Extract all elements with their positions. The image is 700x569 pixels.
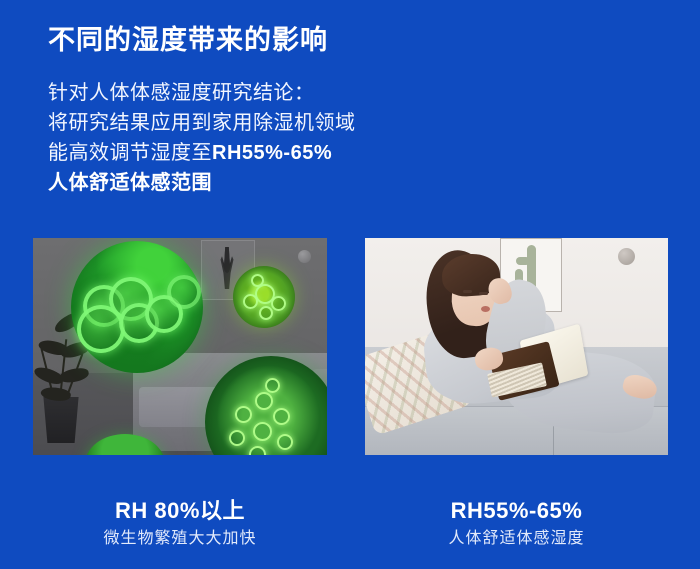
caption-subtitle: 微生物繁殖大大加快 xyxy=(33,527,327,551)
wall-fixture-dark xyxy=(298,250,311,263)
woman-lips xyxy=(481,306,490,312)
microbe-receptor xyxy=(259,306,273,320)
microbe-receptor xyxy=(235,406,252,423)
woman-reading xyxy=(397,244,647,455)
microbe-receptor xyxy=(273,408,290,425)
dark-room-scene xyxy=(33,238,327,455)
caption-title: RH55%-65% xyxy=(365,497,668,525)
caption-high-humidity: RH 80%以上 微生物繁殖大大加快 xyxy=(33,497,327,551)
microbe-sphere-large xyxy=(71,241,203,373)
humidity-range-highlight: RH55%-65% xyxy=(212,142,332,164)
body-line-1: 针对人体体感湿度研究结论： xyxy=(48,78,478,108)
plant-pot-dark xyxy=(41,397,81,443)
page-title: 不同的湿度带来的影响 xyxy=(48,18,328,57)
caption-subtitle: 人体舒适体感湿度 xyxy=(365,527,668,551)
microbe-receptor xyxy=(265,378,280,393)
photo-comfort-humidity xyxy=(365,238,668,455)
light-room-scene xyxy=(365,238,668,455)
caption-title: RH 80%以上 xyxy=(33,497,327,525)
body-line-2: 将研究结果应用到家用除湿机领域 xyxy=(48,108,478,138)
body-line-3-prefix: 能高效调节湿度至 xyxy=(48,142,212,164)
microbe-sphere-medium xyxy=(233,266,295,328)
microbe-bubble xyxy=(167,275,201,309)
caption-comfort-humidity: RH55%-65% 人体舒适体感湿度 xyxy=(365,497,668,551)
microbe-receptor xyxy=(255,392,273,410)
humidity-infographic-page: 不同的湿度带来的影响 针对人体体感湿度研究结论： 将研究结果应用到家用除湿机领域… xyxy=(0,0,700,569)
microbe-receptor xyxy=(271,296,286,311)
woman-eye xyxy=(479,292,488,295)
photo-high-humidity xyxy=(33,238,327,455)
microbe-receptor xyxy=(251,274,264,287)
microbe-receptor xyxy=(253,422,272,441)
body-copy: 针对人体体感湿度研究结论： 将研究结果应用到家用除湿机领域 能高效调节湿度至RH… xyxy=(48,78,478,198)
microbe-receptor xyxy=(277,434,293,450)
woman-eye xyxy=(463,290,472,293)
microbe-receptor xyxy=(229,430,245,446)
microbe-receptor xyxy=(243,294,258,309)
body-line-4: 人体舒适体感范围 xyxy=(48,168,478,198)
microbe-receptor xyxy=(249,446,266,455)
body-line-3: 能高效调节湿度至RH55%-65% xyxy=(48,138,478,168)
